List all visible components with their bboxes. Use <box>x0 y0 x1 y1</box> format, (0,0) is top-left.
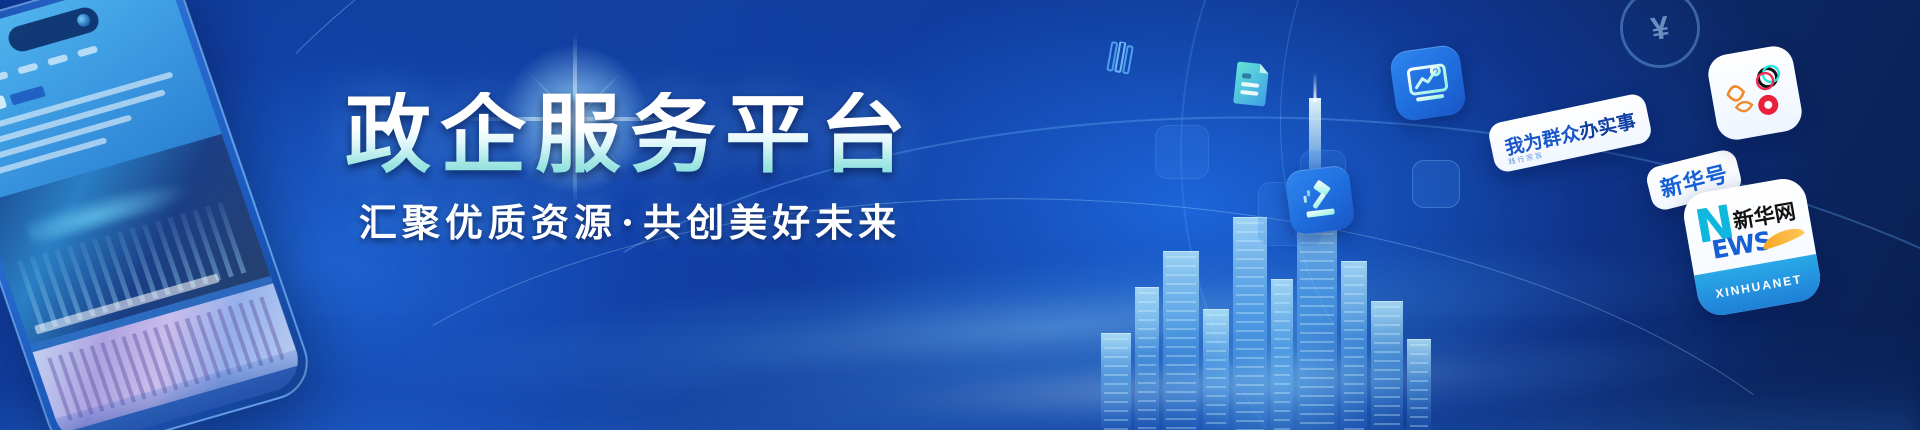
phone-body <box>0 0 319 430</box>
subtitle-right: 共创美好未来 <box>643 200 901 245</box>
chart-monitor-icon <box>1388 43 1467 122</box>
phone-screen <box>0 0 307 430</box>
app-tag <box>10 86 46 106</box>
building <box>1101 333 1131 430</box>
xinhuanet-logo[interactable]: N 新华网 EWS XINHUANET <box>1680 175 1824 319</box>
building <box>1341 261 1367 430</box>
gavel-icon <box>1284 164 1355 235</box>
page-title: 政企服务平台 <box>330 92 930 180</box>
ghost-square <box>1155 125 1209 179</box>
nav-tab <box>0 71 9 83</box>
phone-mockup <box>0 0 354 430</box>
document-icon <box>1230 60 1273 113</box>
app-logo <box>0 95 7 119</box>
subtitle-separator: · <box>617 200 643 245</box>
building <box>1233 217 1267 430</box>
nav-tab <box>17 62 39 74</box>
government-enterprise-service-banner: 政企服务平台 汇聚优质资源·共创美好未来 <box>0 0 1920 430</box>
subtitle-left: 汇聚优质资源 <box>359 200 617 245</box>
nav-tab <box>77 45 99 57</box>
list-lines-icon <box>1105 40 1137 83</box>
city-skyline <box>1095 130 1445 430</box>
slogan-badge[interactable]: 我为群众办实事 践行宗旨 <box>1487 92 1654 174</box>
building <box>1271 279 1293 430</box>
slogan-line-2: 办实事 <box>1576 106 1637 144</box>
yen-currency-icon: ¥ <box>1615 0 1705 73</box>
ghost-square <box>1412 160 1460 208</box>
headline-block: 政企服务平台 汇聚优质资源·共创美好未来 <box>330 92 930 247</box>
nav-tab <box>47 54 69 66</box>
building <box>1135 287 1159 430</box>
building <box>1163 251 1199 430</box>
social-icons-badge[interactable] <box>1705 43 1805 143</box>
building <box>1371 301 1403 430</box>
text-line <box>0 71 173 134</box>
building <box>1407 339 1431 430</box>
page-subtitle: 汇聚优质资源·共创美好未来 <box>330 192 930 247</box>
building <box>1203 309 1229 430</box>
